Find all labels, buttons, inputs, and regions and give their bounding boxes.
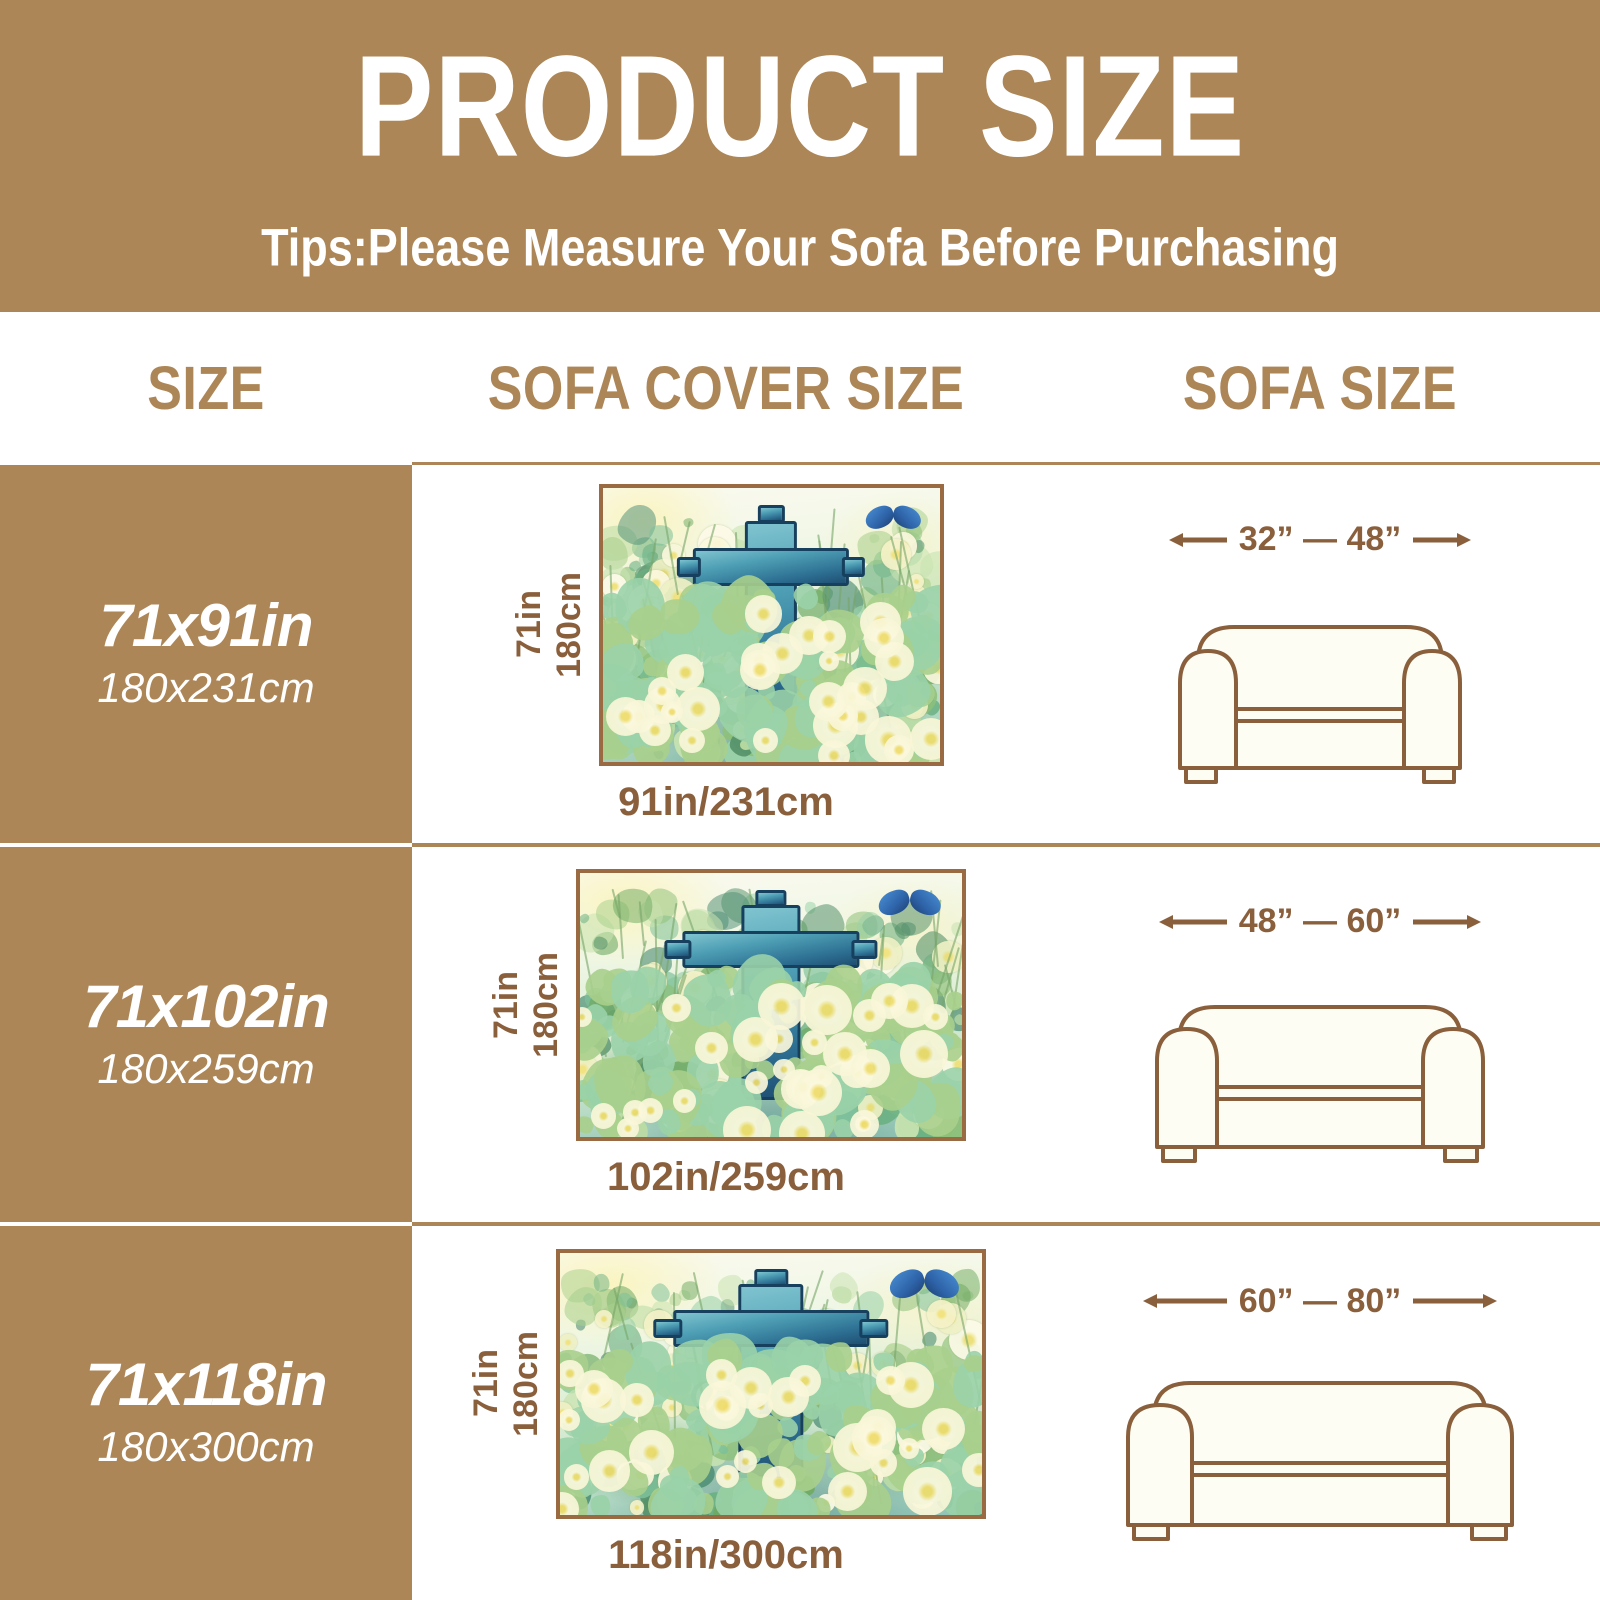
sofa-cover-cell: 71in 180cm 91in/2 [412,465,1040,843]
sofa-cover-artwork [599,484,944,766]
product-size-infographic: PRODUCT SIZE Tips:Please Measure Your So… [0,0,1600,1600]
cover-width-label: 118in/300cm [608,1533,844,1578]
size-centimeters: 180x231cm [97,663,314,713]
armchair-icon [1160,553,1480,788]
arrow-right-icon [1411,527,1471,553]
column-header-sofa-cover-size: SOFA COVER SIZE [412,298,1040,479]
size-centimeters: 180x300cm [97,1422,314,1472]
cover-width-label: 102in/259cm [607,1155,845,1200]
sofa-cover-cell: 71in 180cm 102in/ [412,847,1040,1222]
cover-height-label: 71in 180cm [509,572,589,678]
header-banner: PRODUCT SIZE Tips:Please Measure Your So… [0,0,1600,312]
sofa-illustration-cell: 60” — 80” [1040,1226,1600,1600]
column-header-row: SIZE SOFA COVER SIZE SOFA SIZE [0,312,1600,465]
cover-height-inches: 71in [466,1349,506,1417]
size-inches: 71x118in [85,1353,326,1416]
sofa-icon [1110,1315,1530,1545]
cover-height-centimeters: 180cm [549,572,589,678]
cover-height-centimeters: 180cm [526,952,566,1058]
sofa-illustration-cell: 32” — 48” [1040,465,1600,843]
page-title: PRODUCT SIZE [355,32,1246,183]
cover-height-label: 71in 180cm [486,952,566,1058]
size-cell: 71x118in 180x300cm [0,1226,412,1600]
size-inches: 71x91in [99,594,312,657]
arrow-right-icon [1411,909,1481,935]
arrow-right-icon [1411,1288,1497,1314]
table-row: 71x118in 180x300cm 71in 180cm [0,1226,1600,1600]
sofa-cover-cell: 71in 180cm 118in/ [412,1226,1040,1600]
cover-height-inches: 71in [486,971,526,1039]
column-header-size: SIZE [0,298,412,479]
cover-width-label: 91in/231cm [618,780,834,825]
arrow-left-icon [1143,1288,1229,1314]
table-row: 71x102in 180x259cm 71in 180cm [0,847,1600,1222]
cover-height-inches: 71in [509,590,549,658]
arrow-left-icon [1159,909,1229,935]
page-subtitle: Tips:Please Measure Your Sofa Before Pur… [261,217,1339,278]
loveseat-icon [1135,935,1505,1167]
sofa-cover-artwork [556,1249,986,1519]
sofa-illustration-cell: 48” — 60” [1040,847,1600,1222]
sofa-cover-artwork [576,869,966,1141]
arrow-left-icon [1169,527,1229,553]
size-cell: 71x91in 180x231cm [0,465,412,843]
size-inches: 71x102in [83,975,329,1038]
cover-height-label: 71in 180cm [466,1331,546,1437]
size-centimeters: 180x259cm [97,1044,314,1094]
table-row: 71x91in 180x231cm 71in 180cm [0,465,1600,843]
size-cell: 71x102in 180x259cm [0,847,412,1222]
cover-height-centimeters: 180cm [506,1331,546,1437]
column-header-sofa-size: SOFA SIZE [1040,298,1600,479]
size-table: 71x91in 180x231cm 71in 180cm [0,465,1600,1600]
